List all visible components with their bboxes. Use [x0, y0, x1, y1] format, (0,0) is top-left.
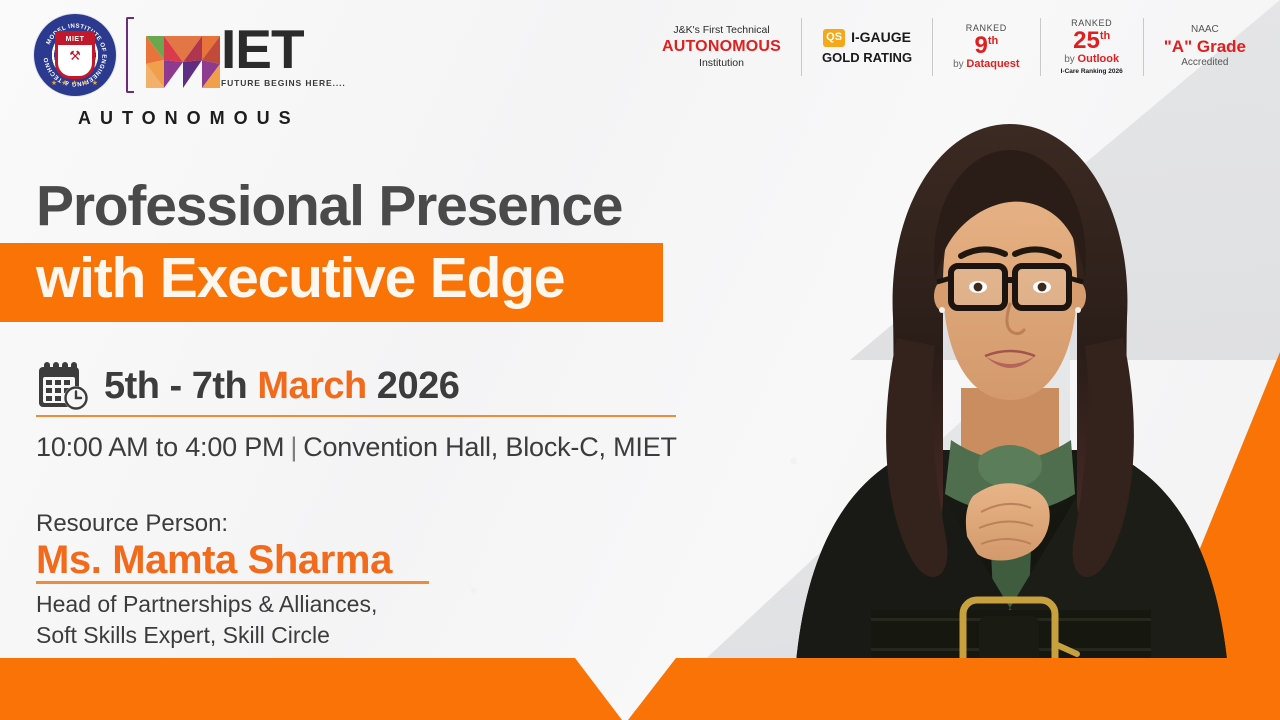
event-time-venue: 10:00 AM to 4:00 PM|Convention Hall, Blo… [36, 432, 677, 463]
event-date-row: 5th - 7th March 2026 [36, 360, 459, 412]
qs-badge-icon: QS [823, 29, 845, 47]
autonomous-line3: Institution [662, 57, 781, 70]
seal-stars: ★ ★ ★ ★ ★ [34, 79, 116, 87]
seal-emblem-icon: ⚒ [69, 49, 81, 62]
resource-person-name: Ms. Mamta Sharma [36, 538, 392, 583]
accreditation-naac: NAAC "A" Grade Accredited [1143, 18, 1266, 76]
miet-m-mark-icon [146, 30, 220, 88]
poster-header: MODEL INSTITUTE OF ENGINEERING & TECHNOL… [0, 0, 1280, 92]
naac-grade: "A" Grade [1164, 37, 1246, 58]
accreditation-outlook: RANKED 25th by Outlook I-Care Ranking 20… [1040, 18, 1143, 76]
calendar-clock-icon [36, 360, 92, 412]
date-divider-rule [36, 415, 676, 417]
autonomous-line1: J&K's First Technical [662, 24, 781, 37]
dataquest-source: Dataquest [966, 58, 1019, 70]
logo-bracket-decor [126, 17, 134, 93]
miet-wordmark: IET FUTURE BEGINS HERE.... [146, 22, 346, 88]
resource-person-label: Resource Person: [36, 510, 228, 538]
dataquest-rank: 9 [974, 32, 987, 59]
resource-person-role-line1: Head of Partnerships & Alliances, [36, 591, 377, 618]
resource-person-underline [36, 581, 429, 584]
igauge-rating: GOLD RATING [822, 50, 912, 66]
event-date-text: 5th - 7th March 2026 [104, 365, 459, 408]
naac-line1: NAAC [1164, 24, 1246, 36]
dataquest-by-prefix: by [953, 59, 966, 70]
institution-logo-block: MODEL INSTITUTE OF ENGINEERING & TECHNOL… [34, 14, 346, 96]
time-venue-separator: | [284, 432, 303, 462]
accreditation-dataquest: RANKED 9th by Dataquest [932, 18, 1040, 76]
bottom-orange-band [0, 658, 1280, 720]
resource-person-role-line2: Soft Skills Expert, Skill Circle [36, 622, 330, 649]
logo-tagline: FUTURE BEGINS HERE.... [221, 79, 346, 88]
dataquest-ordinal: th [988, 35, 998, 47]
accreditation-qs-igauge: QS I-GAUGE GOLD RATING [801, 18, 932, 76]
event-poster: MODEL INSTITUTE OF ENGINEERING & TECHNOL… [0, 0, 1280, 720]
event-title-line2: with Executive Edge [36, 250, 564, 307]
autonomous-label: AUTONOMOUS [78, 108, 300, 129]
event-title-line1: Professional Presence [36, 178, 622, 235]
igauge-name: I-GAUGE [851, 29, 911, 46]
seal-shield: MIET ⚒ [55, 31, 95, 79]
autonomous-line2: AUTONOMOUS [662, 37, 781, 57]
event-venue: Convention Hall, Block-C, MIET [303, 432, 677, 462]
outlook-ordinal: th [1100, 30, 1110, 42]
event-time: 10:00 AM to 4:00 PM [36, 432, 284, 462]
speaker-portrait [775, 88, 1245, 720]
date-month: March [257, 365, 366, 407]
outlook-by-prefix: by [1064, 54, 1077, 65]
institution-seal-icon: MODEL INSTITUTE OF ENGINEERING & TECHNOL… [34, 14, 116, 96]
outlook-source: Outlook [1078, 53, 1120, 65]
naac-line3: Accredited [1164, 57, 1246, 69]
iet-letters: IET [221, 22, 346, 77]
accreditation-strip: J&K's First Technical AUTONOMOUS Institu… [642, 16, 1266, 78]
date-days: 5th - 7th [104, 365, 257, 407]
outlook-subtext: I-Care Ranking 2026 [1061, 68, 1123, 76]
accreditation-autonomous: J&K's First Technical AUTONOMOUS Institu… [642, 18, 801, 76]
date-year: 2026 [367, 365, 460, 407]
seal-shield-label: MIET [57, 33, 93, 45]
outlook-rank: 25 [1073, 27, 1100, 54]
